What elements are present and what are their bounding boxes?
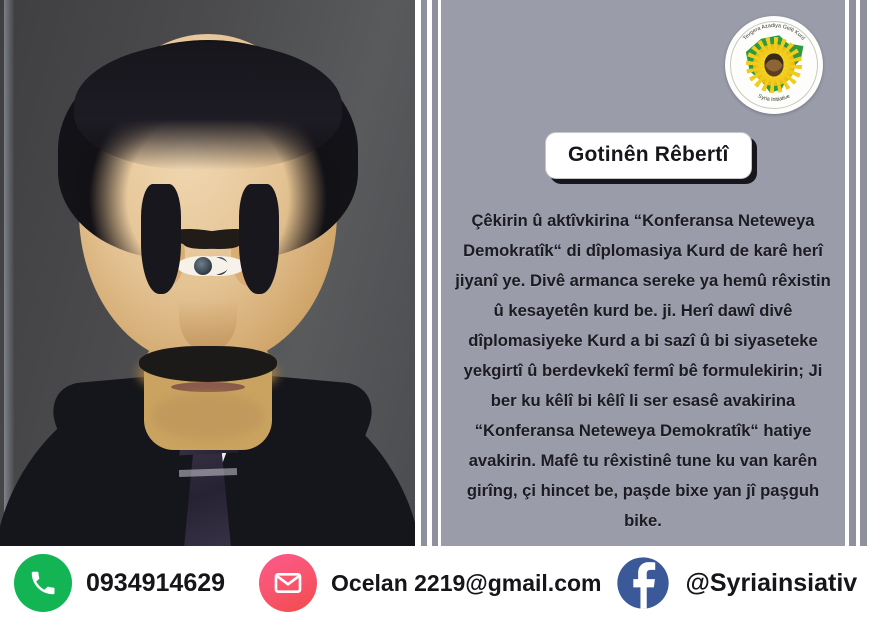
svg-text:Syria Initiative: Syria Initiative: [757, 94, 791, 103]
logo-arc-bottom-label: Syria Initiative: [757, 94, 791, 103]
title-badge: Gotinên Rêbertî: [545, 132, 752, 179]
face: [79, 34, 337, 364]
logo-portrait-icon: [765, 54, 784, 77]
quote-text: Çêkirin û aktîvkirina “Konferansa Netewe…: [455, 206, 831, 536]
portrait-photo: [0, 0, 415, 546]
facebook-icon: [614, 554, 672, 612]
nose: [179, 278, 237, 352]
phone-number-label: 0934914629: [86, 569, 225, 598]
facebook-handle-label: @Syriainsiativ: [686, 569, 858, 598]
photo-light-streak: [4, 0, 14, 546]
divider-bar-left: [421, 0, 427, 546]
panel-edge-bar-inner: [849, 0, 856, 546]
hair-top: [74, 42, 342, 170]
contact-facebook[interactable]: @Syriainsiativ: [614, 554, 858, 612]
email-address-label: Ocelan 2219@gmail.com: [331, 570, 601, 597]
portrait-composition: [0, 0, 415, 546]
poster-canvas: Tevgera Azadiya Gelê Kurd Syria Initiati…: [0, 0, 874, 620]
chin: [152, 392, 264, 440]
content-panel: Tevgera Azadiya Gelê Kurd Syria Initiati…: [441, 0, 845, 546]
panel-edge-bar-outer: [860, 0, 867, 546]
contact-email[interactable]: Ocelan 2219@gmail.com: [259, 554, 601, 612]
phone-icon: [14, 554, 72, 612]
mouth: [171, 382, 245, 392]
contact-phone[interactable]: 0934914629: [14, 554, 225, 612]
contact-footer: 0934914629 Ocelan 2219@gmail.com @Syriai…: [0, 546, 874, 620]
divider-bar-right: [432, 0, 438, 546]
moustache: [139, 346, 277, 382]
organization-logo-icon: Tevgera Azadiya Gelê Kurd Syria Initiati…: [725, 16, 823, 114]
envelope-icon: [259, 554, 317, 612]
